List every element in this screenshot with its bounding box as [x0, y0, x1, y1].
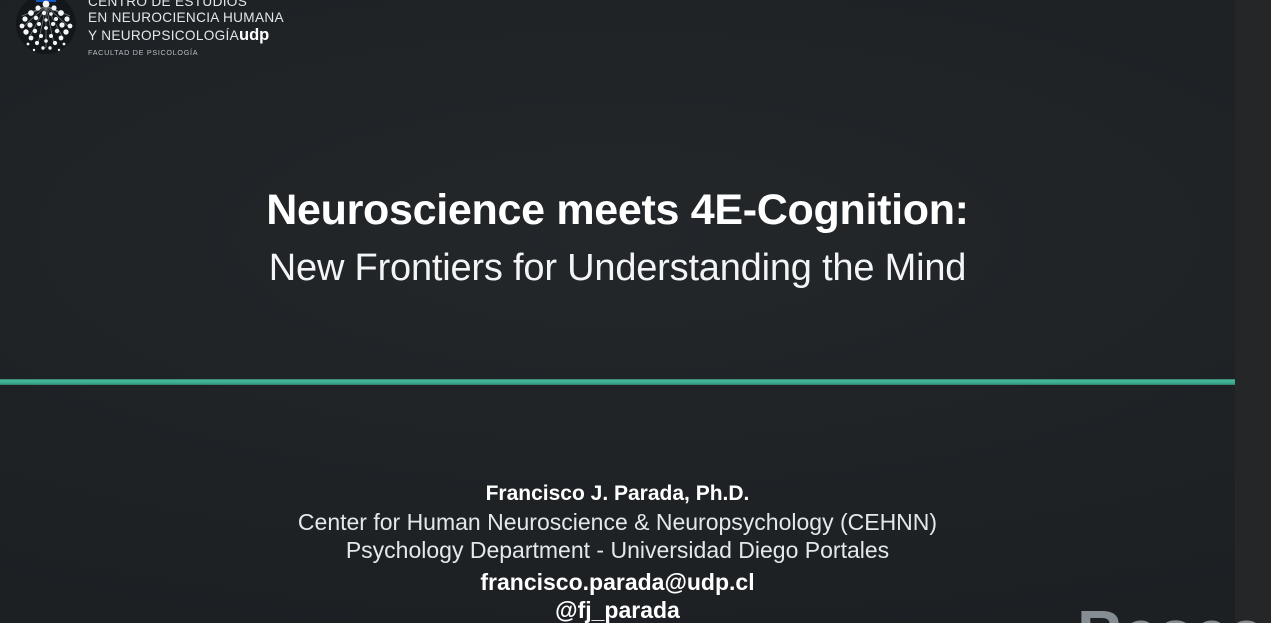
side-filler-strip: [1235, 0, 1271, 623]
slide-subtitle: New Frontiers for Understanding the Mind: [0, 248, 1235, 290]
author-affiliation-department: Psychology Department - Universidad Dieg…: [0, 536, 1235, 565]
cehnn-neuron-burst-logo-icon: [14, 0, 78, 56]
slide-surface: CENTRO DE ESTUDIOS EN NEUROCIENCIA HUMAN…: [0, 0, 1235, 623]
logo-line-1: CENTRO DE ESTUDIOS: [88, 0, 284, 10]
institution-logo: CENTRO DE ESTUDIOS EN NEUROCIENCIA HUMAN…: [14, 0, 284, 57]
author-email: francisco.parada@udp.cl: [0, 568, 1235, 596]
author-social-handle: @fj_parada: [0, 596, 1235, 623]
logo-line-3-text: Y NEUROPSICOLOGÍA: [88, 28, 239, 43]
logo-line-2: EN NEUROCIENCIA HUMANA: [88, 10, 284, 26]
udp-brand: udp: [239, 26, 269, 44]
institution-logo-text: CENTRO DE ESTUDIOS EN NEUROCIENCIA HUMAN…: [88, 0, 284, 57]
accent-divider: [0, 379, 1235, 385]
author-affiliation-center: Center for Human Neuroscience & Neuropsy…: [0, 508, 1235, 537]
presentation-slide-view: CENTRO DE ESTUDIOS EN NEUROCIENCIA HUMAN…: [0, 0, 1271, 623]
logo-line-3: Y NEUROPSICOLOGÍAudp: [88, 26, 284, 45]
slide-title: Neuroscience meets 4E-Cognition:: [0, 186, 1235, 234]
author-block: Francisco J. Parada, Ph.D. Center for Hu…: [0, 480, 1235, 623]
title-block: Neuroscience meets 4E-Cognition: New Fro…: [0, 186, 1235, 290]
logo-faculty-line: FACULTAD DE PSICOLOGÍA: [88, 49, 284, 57]
author-name: Francisco J. Parada, Ph.D.: [0, 480, 1235, 508]
